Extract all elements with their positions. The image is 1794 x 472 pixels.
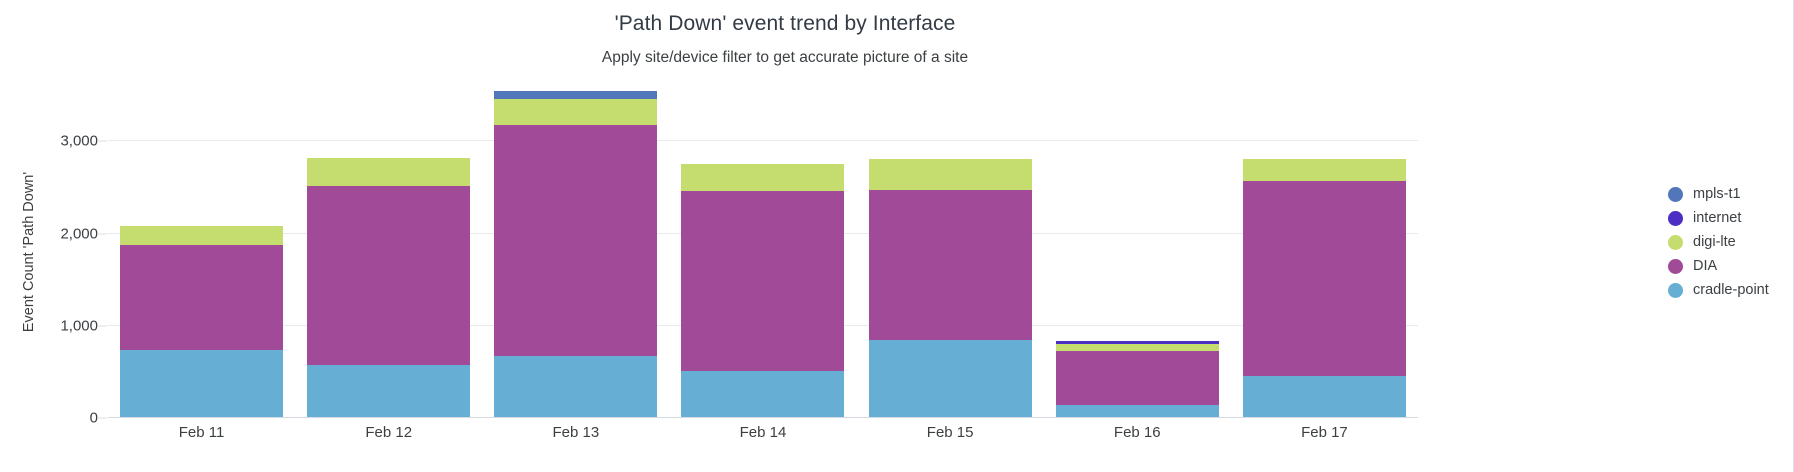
legend-item-label: internet (1693, 210, 1741, 226)
chart-legend: mpls-t1internetdigi-lteDIAcradle-point (1668, 186, 1769, 298)
legend-swatch-icon (1668, 235, 1683, 250)
legend-item-digi-lte[interactable]: digi-lte (1668, 234, 1769, 250)
legend-item-mpls-t1[interactable]: mpls-t1 (1668, 186, 1769, 202)
bar-segment[interactable] (869, 340, 1032, 418)
bar-stack[interactable] (494, 91, 657, 418)
legend-item-label: digi-lte (1693, 234, 1736, 250)
bar-segment[interactable] (120, 245, 283, 351)
bar-slot (108, 86, 295, 418)
chart-title: 'Path Down' event trend by Interface (0, 12, 1570, 36)
y-axis-tick-label: 2,000 (0, 225, 98, 242)
bar-stack[interactable] (869, 159, 1032, 418)
bar-segment[interactable] (681, 191, 844, 370)
bar-segment[interactable] (1243, 376, 1406, 418)
bar-segment[interactable] (494, 91, 657, 100)
legend-swatch-icon (1668, 283, 1683, 298)
bar-slot (1231, 86, 1418, 418)
bar-slot (295, 86, 482, 418)
bar-segment[interactable] (120, 226, 283, 245)
bar-segment[interactable] (869, 159, 1032, 190)
x-axis-tick-label: Feb 13 (482, 424, 669, 452)
bar-segment[interactable] (1243, 181, 1406, 376)
x-axis-labels: Feb 11Feb 12Feb 13Feb 14Feb 15Feb 16Feb … (108, 424, 1418, 452)
legend-item-dia[interactable]: DIA (1668, 258, 1769, 274)
x-axis-tick-label: Feb 17 (1231, 424, 1418, 452)
y-axis-tick-label: 3,000 (0, 133, 98, 150)
legend-swatch-icon (1668, 187, 1683, 202)
bar-stack[interactable] (307, 158, 470, 418)
bar-segment[interactable] (494, 356, 657, 418)
legend-item-internet[interactable]: internet (1668, 210, 1769, 226)
y-axis-tick-label: 0 (0, 410, 98, 427)
bar-slot (669, 86, 856, 418)
bar-segment[interactable] (494, 125, 657, 356)
bar-segment[interactable] (1056, 351, 1219, 405)
bar-group (108, 86, 1418, 418)
legend-swatch-icon (1668, 211, 1683, 226)
legend-item-cradle-point[interactable]: cradle-point (1668, 282, 1769, 298)
x-axis-tick-label: Feb 16 (1044, 424, 1231, 452)
bar-slot (857, 86, 1044, 418)
chart-subtitle: Apply site/device filter to get accurate… (0, 49, 1570, 67)
x-axis-tick-label: Feb 11 (108, 424, 295, 452)
plot-area (108, 86, 1418, 418)
bar-stack[interactable] (1056, 341, 1219, 418)
bar-segment[interactable] (1056, 344, 1219, 351)
y-axis-tick-mark (97, 233, 107, 234)
y-axis-tick-label: 1,000 (0, 317, 98, 334)
legend-item-label: DIA (1693, 258, 1717, 274)
y-axis-tick-mark (97, 418, 107, 419)
y-axis-title-label: Event Count 'Path Down' (21, 172, 37, 332)
bar-segment[interactable] (494, 99, 657, 125)
bar-segment[interactable] (681, 371, 844, 418)
bar-segment[interactable] (681, 164, 844, 191)
bar-segment[interactable] (307, 186, 470, 365)
x-axis-tick-label: Feb 14 (669, 424, 856, 452)
bar-segment[interactable] (307, 158, 470, 186)
legend-item-label: cradle-point (1693, 282, 1769, 298)
x-axis-tick-label: Feb 15 (857, 424, 1044, 452)
bar-segment[interactable] (869, 190, 1032, 340)
bar-stack[interactable] (681, 164, 844, 418)
bar-segment[interactable] (307, 365, 470, 418)
bar-stack[interactable] (1243, 159, 1406, 418)
legend-item-label: mpls-t1 (1693, 186, 1741, 202)
x-axis-tick-label: Feb 12 (295, 424, 482, 452)
y-axis-tick-mark (97, 141, 107, 142)
bar-segment[interactable] (1243, 159, 1406, 181)
bar-slot (482, 86, 669, 418)
x-axis-line (108, 417, 1418, 418)
legend-swatch-icon (1668, 259, 1683, 274)
bar-slot (1044, 86, 1231, 418)
bar-segment[interactable] (120, 350, 283, 418)
chart-container: 'Path Down' event trend by Interface App… (0, 0, 1794, 472)
y-axis-tick-mark (97, 325, 107, 326)
bar-stack[interactable] (120, 226, 283, 418)
